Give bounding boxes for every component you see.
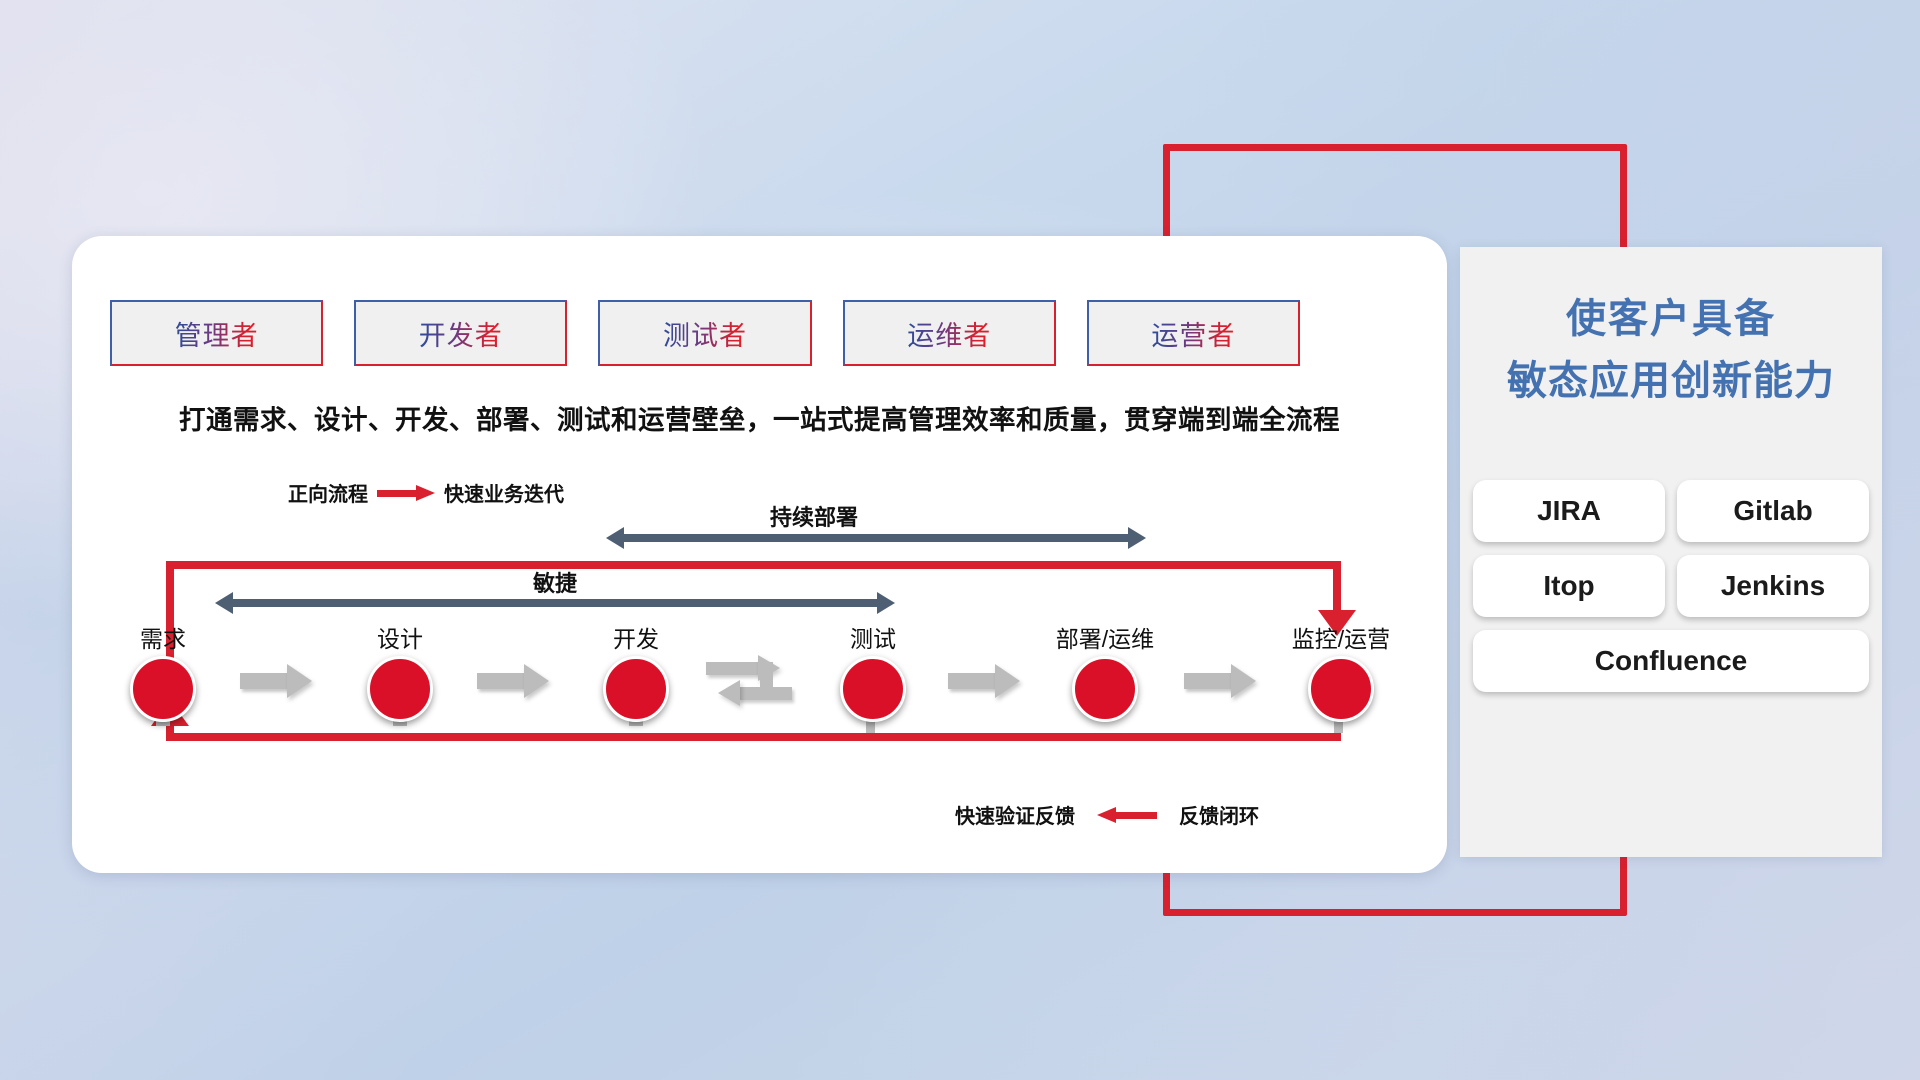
- role-box-row: 管理者 开发者 测试者 运维者 运营者: [110, 300, 1300, 366]
- flow-arrow-icon-4: [1184, 664, 1256, 698]
- role-box-tester[interactable]: 测试者: [598, 300, 811, 366]
- tool-confluence[interactable]: Confluence: [1473, 630, 1869, 692]
- loop-right-segment: [1333, 561, 1341, 616]
- loop-bottom-segment: [166, 733, 1341, 741]
- forward-flow-label: 正向流程: [288, 478, 368, 507]
- continuous-deployment-arrow: [606, 527, 1146, 549]
- role-label: 运营者: [1151, 314, 1235, 353]
- fast-iteration-label: 快速业务迭代: [444, 478, 564, 507]
- role-label: 开发者: [419, 314, 503, 353]
- stage-development[interactable]: 开发: [571, 620, 701, 722]
- stage-label: 监控/运营: [1276, 620, 1406, 654]
- role-label: 测试者: [663, 314, 747, 353]
- stage-testing[interactable]: 测试: [808, 620, 938, 722]
- stage-dot: [1308, 656, 1374, 722]
- flow-arrow-icon-2: [477, 664, 549, 698]
- red-right-arrow-icon: [377, 485, 435, 501]
- stage-dot: [1072, 656, 1138, 722]
- flow-arrow-icon-1: [240, 664, 312, 698]
- role-box-developer[interactable]: 开发者: [354, 300, 567, 366]
- tool-gitlab[interactable]: Gitlab: [1677, 480, 1869, 542]
- stage-label: 测试: [808, 620, 938, 654]
- stage-design[interactable]: 设计: [335, 620, 465, 722]
- role-label: 管理者: [175, 314, 259, 353]
- stage-deploy-ops[interactable]: 部署/运维: [1040, 620, 1170, 722]
- red-left-arrow-icon: [1097, 807, 1157, 823]
- stage-label: 开发: [571, 620, 701, 654]
- stage-dot: [840, 656, 906, 722]
- stage-label: 部署/运维: [1040, 620, 1170, 654]
- role-box-ops[interactable]: 运维者: [843, 300, 1056, 366]
- stage-dot: [603, 656, 669, 722]
- diagram-caption: 打通需求、设计、开发、部署、测试和运营壁垒，一站式提高管理效率和质量，贯穿端到端…: [72, 398, 1447, 437]
- feedback-legend: 快速验证反馈 反馈闭环: [955, 800, 1259, 829]
- iterate-swap-icon: [706, 656, 792, 712]
- tool-jira[interactable]: JIRA: [1473, 480, 1665, 542]
- panel-title-line1: 使客户具备: [1460, 288, 1882, 350]
- forward-flow-legend: 正向流程 快速业务迭代: [288, 478, 564, 507]
- tool-list: JIRA Gitlab Itop Jenkins Confluence: [1462, 480, 1880, 692]
- fast-validation-label: 快速验证反馈: [955, 800, 1075, 829]
- role-box-manager[interactable]: 管理者: [110, 300, 323, 366]
- role-label: 运维者: [907, 314, 991, 353]
- panel-title-line2: 敏态应用创新能力: [1460, 350, 1882, 412]
- role-box-operations[interactable]: 运营者: [1087, 300, 1300, 366]
- feedback-loop-label: 反馈闭环: [1179, 800, 1259, 829]
- stage-dot: [367, 656, 433, 722]
- stage-label: 需求: [98, 620, 228, 654]
- stage-requirement[interactable]: 需求: [98, 620, 228, 722]
- stage-label: 设计: [335, 620, 465, 654]
- stage-monitor-operations[interactable]: 监控/运营: [1276, 620, 1406, 722]
- loop-top-segment: [166, 561, 1341, 569]
- tool-jenkins[interactable]: Jenkins: [1677, 555, 1869, 617]
- tool-itop[interactable]: Itop: [1473, 555, 1665, 617]
- stage-dot: [130, 656, 196, 722]
- flow-arrow-icon-3: [948, 664, 1020, 698]
- agile-arrow: [215, 592, 895, 614]
- panel-title: 使客户具备 敏态应用创新能力: [1460, 288, 1882, 412]
